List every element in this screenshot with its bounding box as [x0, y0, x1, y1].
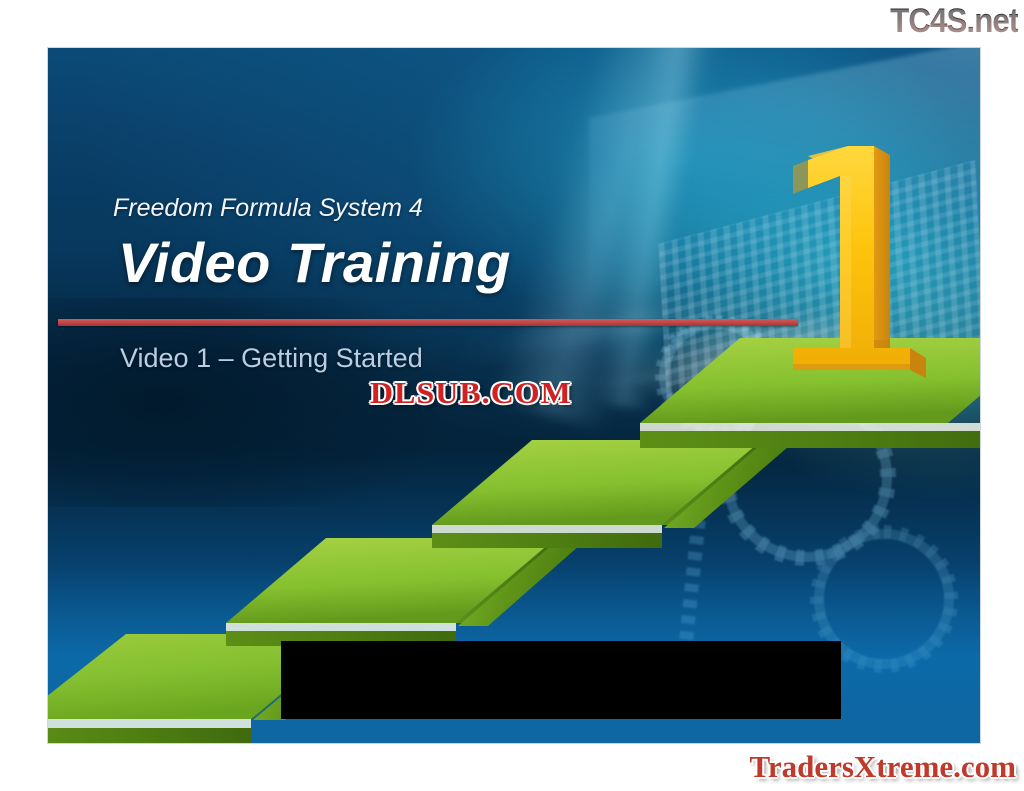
- slide-title: Video Training: [118, 230, 511, 295]
- slide-canvas: Freedom Formula System 4 Video Training …: [47, 47, 981, 744]
- site-brand-top: TC4S.net: [890, 2, 1018, 41]
- redaction-bar: [281, 641, 841, 719]
- title-divider: [58, 319, 798, 326]
- watermark-bottom-right: TradersXtreme.com: [749, 749, 1016, 785]
- slide-eyebrow: Freedom Formula System 4: [113, 194, 423, 223]
- watermark-center: DLSUB.COM: [370, 375, 572, 411]
- slide-subtitle: Video 1 – Getting Started: [120, 343, 423, 374]
